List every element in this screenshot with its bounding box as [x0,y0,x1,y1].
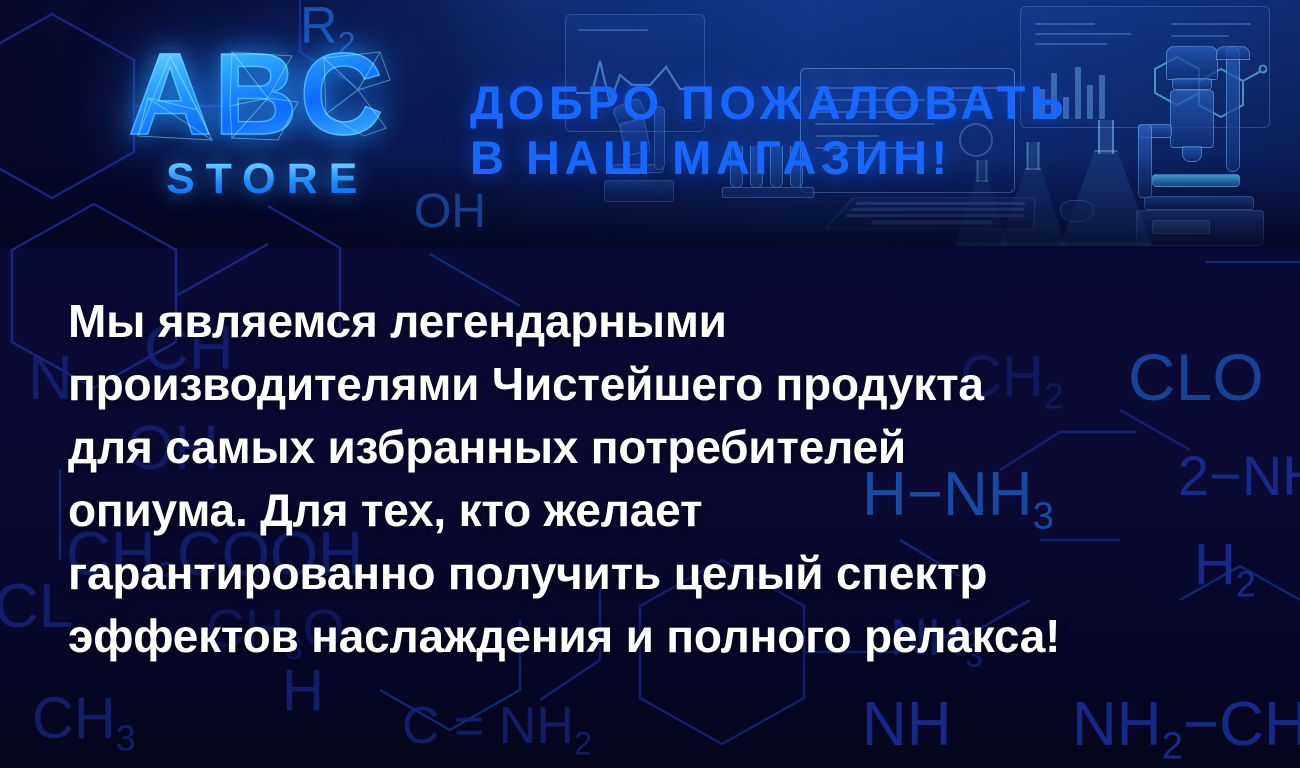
headline-line-2: В НАШ МАГАЗИН! [470,131,1068,186]
logo-abc-text: ABC [128,36,428,152]
body-line-1: Мы являемся легендарными [68,290,1258,353]
welcome-headline: ДОБРО ПОЖАЛОВАТЬ В НАШ МАГАЗИН! [470,76,1068,185]
brand-logo: ABC STORE [128,36,428,201]
body-line-4: опиума. Для тех, кто желает [68,479,1258,542]
promo-description: Мы являемся легендарными производителями… [68,290,1258,668]
formula-h-bottom: H [282,662,324,720]
body-line-3: для самых избранных потребителей [68,416,1258,479]
logo-store-text: STORE [166,158,428,201]
formula-nh2-ch: NH2−CH [1072,694,1300,766]
formula-ch3-bottom: CH3 [32,690,136,757]
formula-cl: CL [0,576,73,638]
headline-line-1: ДОБРО ПОЖАЛОВАТЬ [470,76,1068,131]
body-line-2: производителями Чистейшего продукта [68,353,1258,416]
formula-nh-bottom: NH [862,694,952,756]
formula-c-nh2: C = NH2 [402,700,592,760]
promo-banner: R2 OH CH N OH CH3COOH CL CH3 H C = NH2 C [0,0,1300,768]
formula-n-left: N [28,348,73,410]
body-line-5: гарантированно получить целый спектр [68,542,1258,605]
body-line-6: эффектов наслаждения и полного релакса! [68,605,1258,668]
